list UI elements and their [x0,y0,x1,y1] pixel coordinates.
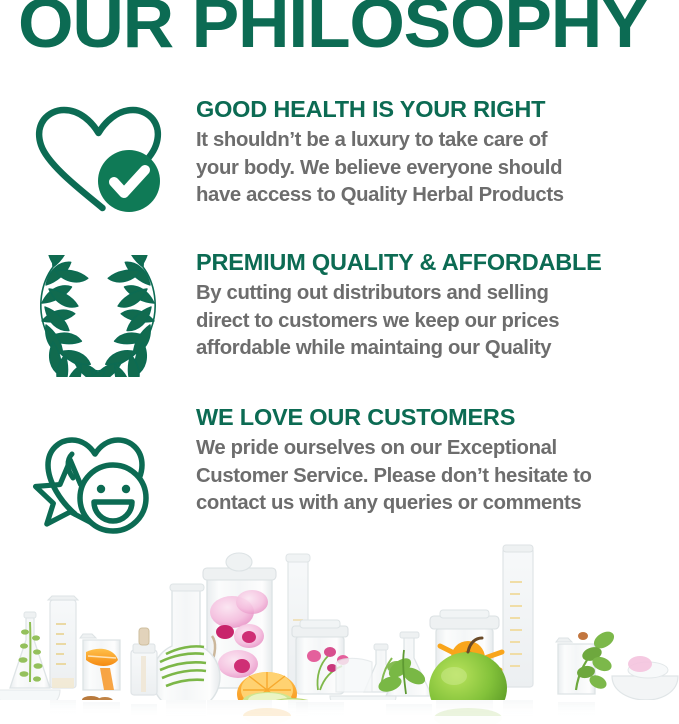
feature-body: It shouldn’t be a luxury to take care of… [196,127,667,210]
feature-row: GOOD HEALTH IS YOUR RIGHT It shouldn’t b… [0,96,679,220]
body-line: By cutting out distributors and selling [196,280,667,308]
heart-check-icon [28,102,168,220]
body-line: direct to customers we keep our prices [196,308,667,336]
body-line: affordable while maintaing our Quality [196,335,667,363]
feature-heading: WE LOVE OUR CUSTOMERS [196,404,667,431]
body-line: your body. We believe everyone should [196,155,667,183]
philosophy-infographic: OUR PHILOSOPHY GOOD HEALTH IS YOUR RIGHT… [0,0,679,724]
feature-row: PREMIUM QUALITY & AFFORDABLE By cutting … [0,249,679,377]
body-line: have access to Quality Herbal Products [196,182,667,210]
feature-heading: PREMIUM QUALITY & AFFORDABLE [196,249,667,276]
feature-body: By cutting out distributors and selling … [196,280,667,363]
feature-body: We pride ourselves on our Exceptional Cu… [196,435,667,518]
feature-icon-cell [0,249,196,377]
body-line: Customer Service. Please don’t hesitate … [196,463,667,491]
body-line: We pride ourselves on our Exceptional [196,435,667,463]
feature-heading: GOOD HEALTH IS YOUR RIGHT [196,96,667,123]
feature-icon-cell [0,96,196,220]
laurel-wreath-icon [23,255,173,377]
feature-row: WE LOVE OUR CUSTOMERS We pride ourselves… [0,404,679,536]
feature-text-cell: WE LOVE OUR CUSTOMERS We pride ourselves… [196,404,679,518]
body-line: It shouldn’t be a luxury to take care of [196,127,667,155]
feature-text-cell: GOOD HEALTH IS YOUR RIGHT It shouldn’t b… [196,96,679,210]
heart-star-smiley-icon [28,410,168,536]
body-line: contact us with any queries or comments [196,490,667,518]
feature-icon-cell [0,404,196,536]
feature-text-cell: PREMIUM QUALITY & AFFORDABLE By cutting … [196,249,679,363]
page-title: OUR PHILOSOPHY [18,0,679,58]
lab-glassware-photo [0,540,679,724]
